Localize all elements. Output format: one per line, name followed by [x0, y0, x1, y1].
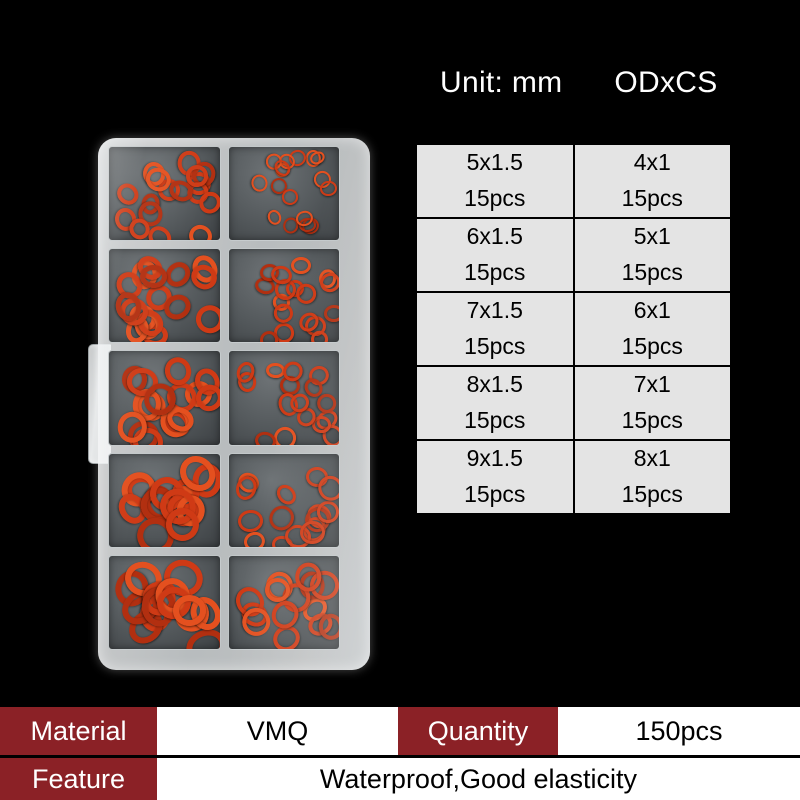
spec-cell-left: 6x1.515pcs — [416, 218, 574, 292]
o-ring — [266, 208, 284, 227]
spec-qty: 15pcs — [417, 329, 573, 365]
o-ring — [249, 173, 269, 193]
box-compartment — [108, 555, 221, 650]
spec-qty: 15pcs — [417, 255, 573, 291]
spec-qty: 15pcs — [417, 181, 573, 217]
box-compartments — [108, 146, 340, 650]
o-ring — [242, 530, 268, 548]
spec-cell-right: 5x115pcs — [574, 218, 732, 292]
product-image — [88, 132, 370, 674]
info-row-feature: Feature Waterproof,Good elasticity — [0, 758, 800, 800]
spec-size: 8x1 — [575, 441, 731, 477]
spec-size: 9x1.5 — [417, 441, 573, 477]
spec-size: 6x1.5 — [417, 219, 573, 255]
spec-qty: 15pcs — [417, 403, 573, 439]
spec-cell-right: 6x115pcs — [574, 292, 732, 366]
o-ring — [281, 188, 299, 206]
spec-qty: 15pcs — [575, 329, 731, 365]
o-ring — [186, 221, 216, 241]
box-compartment — [108, 453, 221, 548]
spec-size: 4x1 — [575, 145, 731, 181]
spec-table-row: 7x1.515pcs6x115pcs — [416, 292, 731, 366]
quantity-label: Quantity — [398, 707, 558, 755]
spec-size: 5x1 — [575, 219, 731, 255]
box-compartment — [228, 555, 341, 650]
spec-cell-right: 7x115pcs — [574, 366, 732, 440]
o-ring — [191, 299, 220, 338]
o-ring — [291, 257, 311, 274]
spec-cell-right: 8x115pcs — [574, 440, 732, 514]
spec-header: Unit: mm ODxCS — [440, 62, 780, 104]
spec-table-row: 5x1.515pcs4x115pcs — [416, 144, 731, 218]
spec-table-row: 8x1.515pcs7x115pcs — [416, 366, 731, 440]
spec-size: 7x1.5 — [417, 293, 573, 329]
spec-qty: 15pcs — [575, 255, 731, 291]
feature-label: Feature — [0, 758, 157, 800]
spec-cell-left: 5x1.515pcs — [416, 144, 574, 218]
box-compartment — [108, 248, 221, 343]
spec-table-body: 5x1.515pcs4x115pcs6x1.515pcs5x115pcs7x1.… — [416, 144, 731, 514]
spec-cell-left: 9x1.515pcs — [416, 440, 574, 514]
material-value: VMQ — [157, 707, 398, 755]
spec-table-row: 9x1.515pcs8x115pcs — [416, 440, 731, 514]
box-compartment — [228, 248, 341, 343]
box-compartment — [228, 453, 341, 548]
feature-value: Waterproof,Good elasticity — [157, 758, 800, 800]
o-ring — [237, 508, 264, 532]
spec-cell-right: 4x115pcs — [574, 144, 732, 218]
spec-size: 5x1.5 — [417, 145, 573, 181]
od-cs-label: ODxCS — [614, 66, 717, 100]
spec-qty: 15pcs — [417, 477, 573, 513]
spec-table-row: 6x1.515pcs5x115pcs — [416, 218, 731, 292]
o-ring — [113, 180, 142, 209]
spec-size: 7x1 — [575, 367, 731, 403]
box-compartment — [108, 350, 221, 445]
material-label: Material — [0, 707, 157, 755]
size-spec-table: 5x1.515pcs4x115pcs6x1.515pcs5x115pcs7x1.… — [415, 143, 732, 515]
o-ring — [324, 304, 340, 322]
spec-cell-left: 8x1.515pcs — [416, 366, 574, 440]
box-compartment — [108, 146, 221, 241]
unit-label: Unit: mm — [440, 66, 562, 100]
spec-qty: 15pcs — [575, 403, 731, 439]
box-compartment — [228, 350, 341, 445]
quantity-value: 150pcs — [558, 707, 800, 755]
spec-size: 8x1.5 — [417, 367, 573, 403]
o-ring — [273, 481, 299, 508]
o-ring — [318, 613, 340, 642]
o-ring — [320, 180, 338, 197]
spec-size: 6x1 — [575, 293, 731, 329]
spec-qty: 15pcs — [575, 477, 731, 513]
spec-qty: 15pcs — [575, 181, 731, 217]
info-row-material-quantity: Material VMQ Quantity 150pcs — [0, 707, 800, 755]
o-ring — [139, 264, 167, 288]
box-compartment — [228, 146, 341, 241]
spec-cell-left: 7x1.515pcs — [416, 292, 574, 366]
